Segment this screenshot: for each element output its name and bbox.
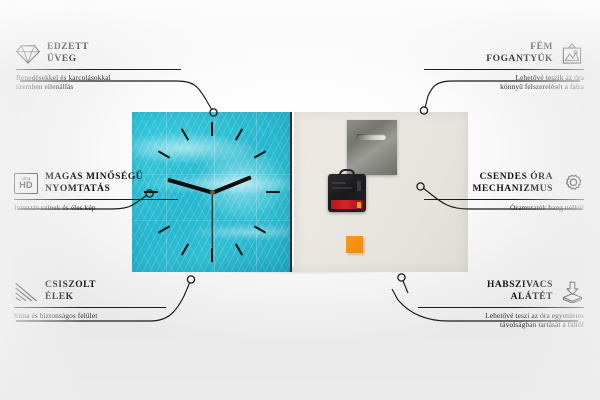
callout-title-line1: FÉM: [530, 42, 553, 52]
callout-desc-line2: távolságban tartását a faltól: [500, 320, 584, 329]
callout-title-line2: ÜVEG: [47, 54, 77, 64]
callout-title-line2: ALÁTÉT: [511, 292, 553, 302]
callout-desc-line1: Lehetővé teszi az óra egyenletes: [485, 311, 584, 320]
callout-title-line1: EDZETT: [47, 42, 89, 52]
callout-rule: [418, 307, 584, 308]
callout-title-line2: FOGANTYÚK: [486, 54, 553, 64]
clock-tick: [158, 225, 170, 233]
polished-edges-icon: [14, 281, 38, 303]
callout-tempered-glass[interactable]: EDZETT ÜVEG Repedésekkel és karcolásokka…: [16, 42, 181, 91]
hanger-slot: [356, 134, 386, 140]
battery: [331, 200, 363, 209]
callout-desc-line1: Sima és biztonságos felület: [14, 311, 97, 320]
callout-title-line1: CSISZOLT: [45, 280, 96, 290]
callout-desc-line2: szemben ellenállás: [16, 82, 73, 91]
callout-desc-line1: Intenzív színek és éles kép: [14, 203, 96, 212]
callout-desc-line1: Repedésekkel és karcolásokkal: [16, 73, 111, 82]
callout-rule: [16, 69, 181, 70]
clock-tick: [211, 122, 213, 136]
gear-icon: [560, 173, 584, 195]
callout-polished-edges[interactable]: CSISZOLT ÉLEK Sima és biztonságos felüle…: [14, 280, 166, 320]
callout-rule: [14, 307, 166, 308]
callout-title-line1: CSENDES ÓRA: [480, 172, 553, 182]
callout-rule: [14, 199, 178, 200]
callout-title-line2: NYOMTATÁS: [45, 184, 110, 194]
callout-desc-line2: könnyű felszerelését a falra: [500, 82, 584, 91]
ultra-hd-icon: ultra HD: [14, 173, 38, 194]
infographic-canvas: EDZETT ÜVEG Repedésekkel és karcolásokka…: [0, 0, 600, 400]
clock-tick: [235, 128, 243, 140]
diamond-icon: [16, 43, 40, 65]
callout-rule: [424, 69, 584, 70]
callout-hd-print[interactable]: ultra HD MAGAS MINŐSÉGŰ NYOMTATÁS Intenz…: [14, 172, 178, 212]
ultra-hd-main-text: HD: [19, 181, 32, 190]
callout-title-line2: MECHANIZMUS: [473, 184, 553, 194]
clock-second-hand: [211, 192, 212, 247]
clock-tick: [181, 243, 189, 255]
callout-desc-line1: Óramutatók hang nélkül: [510, 203, 584, 212]
clock-hour-hand: [211, 175, 251, 194]
callout-desc-line1: Lehetővé teszik az óra: [516, 73, 584, 82]
callout-quiet-mechanism[interactable]: CSENDES ÓRA MECHANIZMUS Óramutatók hang …: [424, 172, 584, 212]
foam-spacer-pad: [346, 236, 363, 253]
clock-tick: [158, 150, 170, 158]
clock-mechanism: [328, 174, 366, 212]
metal-hanger-plate: [347, 120, 397, 175]
callout-title-line1: MAGAS MINŐSÉGŰ: [45, 172, 143, 182]
callout-metal-handles[interactable]: FÉM FOGANTYÚK Lehetővé teszik az óra kön…: [424, 42, 584, 91]
clock-tick: [181, 128, 189, 140]
callout-title-line2: ÉLEK: [45, 292, 74, 302]
mechanism-hanger-loop: [339, 169, 355, 177]
product-image: [132, 112, 468, 272]
clock-tick: [235, 243, 243, 255]
callout-foam-pad[interactable]: HABSZIVACS ALÁTÉT Lehetővé teszi az óra …: [418, 280, 584, 329]
clock-tick: [211, 248, 213, 262]
foam-pad-arrow-icon: [560, 281, 584, 303]
wall-mount-frame-icon: [560, 43, 584, 65]
clock-tick: [266, 191, 280, 193]
clock-center-cap: [210, 190, 215, 195]
callout-rule: [424, 199, 584, 200]
battery-terminal: [357, 202, 361, 208]
callout-title-line1: HABSZIVACS: [487, 280, 553, 290]
